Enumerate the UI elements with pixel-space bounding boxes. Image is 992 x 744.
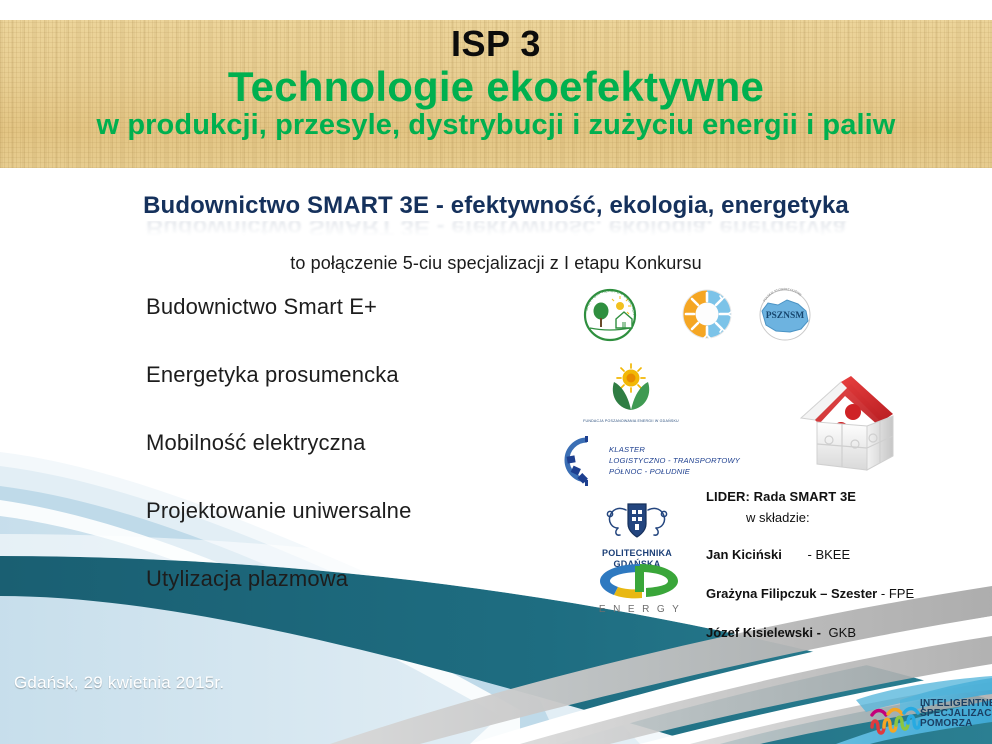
lider-member-affiliation: FPE [889,586,914,601]
list-item: Projektowanie uniwersalne [146,500,576,568]
lider-member-name: Jan Kiciński [706,547,782,562]
specialization-list: Budownictwo Smart E+ Energetyka prosumen… [146,296,576,636]
lider-member: Grażyna Filipczuk – Szester - FPE [706,586,986,601]
politechnika-gdanska-crest-icon [584,500,690,542]
list-item: Mobilność elektryczna [146,432,576,500]
svg-text:PSZNSM: PSZNSM [766,311,805,321]
klaster-logo: KLASTER LOGISTYCZNO - TRANSPORTOWY PÓŁNO… [563,432,733,488]
lider-subtitle: w składzie: [746,510,986,525]
fpe-logo-icon [576,360,686,416]
energy-logo: E N E R G Y [590,560,690,616]
lider-member-affiliation: GKB [829,625,856,640]
list-item: Utylizacja plazmowa [146,568,576,636]
fpe-logo-caption: FUNDACJA POSZANOWANIA ENERGII W GDAŃSKU [576,419,686,424]
banner-line-subtitle: w produkcji, przesyle, dystrybucji i zuż… [97,110,896,141]
fpe-logo: FUNDACJA POSZANOWANIA ENERGII W GDAŃSKU [576,360,686,436]
lider-member-dash: - [817,625,821,640]
lider-member: Józef Kisielewski - GKB [706,625,986,640]
energy-logo-caption: E N E R G Y [590,604,690,615]
title-banner: ISP 3 Technologie ekoefektywne w produkc… [0,20,992,168]
sun-snowflake-logo-icon [678,287,736,343]
pg-caption-line-1: POLITECHNIKA [584,548,690,559]
isp-brand-text: INTELIGENTNE SPECJALIZACJE POMORZA [920,699,992,729]
bkee-logo-icon: BAŁTYCKI KLASTER EKOENERGETYCZNY [578,287,642,343]
tagline-text: to połączenie 5-ciu specjalizacji z I et… [0,253,992,274]
lider-member-dash: - [881,586,885,601]
slide-subtitle: Budownictwo SMART 3E - efektywność, ekol… [0,192,992,220]
energy-logo-icon [590,560,690,600]
presentation-slide: ISP 3 Technologie ekoefektywne w produkc… [0,0,992,744]
psznsm-logo-icon: PSZNSM POLSKIE STOWARZYSZENIE [754,287,816,343]
klaster-line-3: PÓŁNOC - POŁUDNIE [609,466,740,477]
klaster-line-2: LOGISTYCZNO - TRANSPORTOWY [609,455,740,466]
politechnika-gdanska-logo: POLITECHNIKA GDAŃSKA [584,500,690,560]
slide-subtitle-reflection: Budownictwo SMART 3E - efektywność, ekol… [0,221,992,241]
lider-member-dash: - [808,547,812,562]
list-item: Budownictwo Smart E+ [146,296,576,364]
lider-member-name: Grażyna Filipczuk – Szester [706,586,877,601]
lider-member-name: Józef Kisielewski [706,625,813,640]
puzzle-house-graphic [793,372,905,476]
footer-date: Gdańsk, 29 kwietnia 2015r. [14,673,224,693]
isp-brand-line-3: POMORZA [920,719,992,729]
banner-line-isp: ISP 3 [451,26,541,63]
list-item: Energetyka prosumencka [146,364,576,432]
lider-block: LIDER: Rada SMART 3E w składzie: Jan Kic… [706,489,986,640]
lider-member: Jan Kiciński - BKEE [706,547,986,562]
slide-subtitle-block: Budownictwo SMART 3E - efektywność, ekol… [0,192,992,241]
banner-line-main-title: Technologie ekoefektywne [228,65,764,110]
lider-title: LIDER: Rada SMART 3E [706,489,986,504]
klaster-line-1: KLASTER [609,444,740,455]
lider-member-affiliation: BKEE [815,547,850,562]
